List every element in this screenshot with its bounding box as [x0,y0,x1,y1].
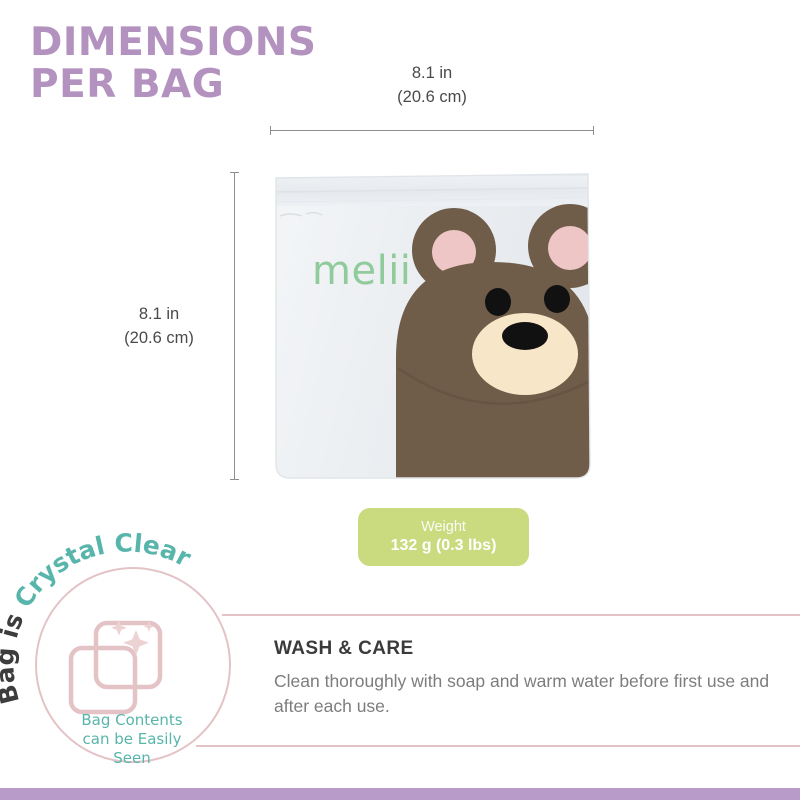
product-infographic: Dimensions per bag 8.1 in (20.6 cm) 8.1 … [0,0,800,800]
badge-caption-line-3: Seen [113,749,151,767]
wash-care-title: WASH & CARE [274,638,774,660]
bottom-accent-bar [0,788,800,800]
page-title: Dimensions per bag [30,22,360,105]
divider-top [222,614,800,616]
weight-badge: Weight 132 g (0.3 lbs) [358,508,529,566]
badge-caption-line-2: can be Easily [83,730,182,748]
width-dimension-line [270,130,594,131]
wash-care-section: WASH & CARE Clean thoroughly with soap a… [274,638,774,719]
weight-value: 132 g (0.3 lbs) [391,537,497,555]
brand-logo-text: melii [312,248,411,294]
wash-care-body: Clean thoroughly with soap and warm wate… [274,669,774,719]
width-dimension-label: 8.1 in (20.6 cm) [352,62,512,110]
crystal-clear-badge: Bag is Crystal Clear Bag Contents can be… [18,548,248,778]
badge-caption: Bag Contents can be Easily Seen [81,711,182,767]
bag-illustration: melii [270,172,594,480]
divider-bottom [196,745,800,747]
overlapping-squares-icon [71,623,160,712]
badge-caption-line-1: Bag Contents [81,711,182,729]
weight-label: Weight [421,520,466,536]
height-dimension-label: 8.1 in (20.6 cm) [84,303,234,351]
bear-illustration [396,204,594,480]
height-dimension-line [234,172,235,480]
